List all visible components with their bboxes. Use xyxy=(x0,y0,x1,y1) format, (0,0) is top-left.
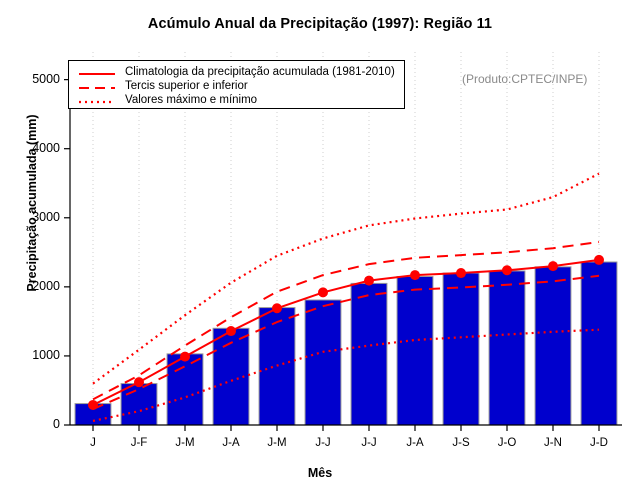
legend-label: Climatologia da precipitação acumulada (… xyxy=(125,66,395,78)
y-tick-label: 4000 xyxy=(14,141,60,155)
y-tick-label: 0 xyxy=(14,417,60,431)
data-point xyxy=(548,261,558,271)
bar xyxy=(121,384,157,425)
legend-label: Tercis superior e inferior xyxy=(125,80,248,92)
bar xyxy=(305,300,341,425)
producer-watermark: (Produto:CPTEC/INPE) xyxy=(462,72,587,86)
data-point xyxy=(502,265,512,275)
data-point xyxy=(88,400,98,410)
precipitation-chart: Acúmulo Anual da Precipitação (1997): Re… xyxy=(0,0,640,500)
data-point xyxy=(272,303,282,313)
legend-key-dashed-icon xyxy=(77,81,117,95)
data-point xyxy=(318,287,328,297)
data-point xyxy=(456,268,466,278)
data-point xyxy=(134,377,144,387)
bar xyxy=(351,283,387,425)
y-axis-label: Precipitação acumulada (mm) xyxy=(25,13,39,393)
legend-item: Valores máximo e mínimo xyxy=(69,95,404,109)
y-tick-label: 3000 xyxy=(14,210,60,224)
legend-item: Tercis superior e inferior xyxy=(69,81,404,95)
bar xyxy=(581,262,617,425)
bar xyxy=(443,273,479,425)
bar xyxy=(535,267,571,425)
y-tick-label: 1000 xyxy=(14,348,60,362)
data-point xyxy=(226,326,236,336)
y-tick-label: 5000 xyxy=(14,72,60,86)
legend-item: Climatologia da precipitação acumulada (… xyxy=(69,67,404,81)
data-point xyxy=(180,352,190,362)
data-point xyxy=(594,255,604,265)
y-tick-label: 2000 xyxy=(14,279,60,293)
bar xyxy=(397,276,433,425)
legend-key-solid-icon xyxy=(77,67,117,81)
data-point xyxy=(410,270,420,280)
x-tick-label: J-D xyxy=(569,437,629,449)
legend-key-dotted-icon xyxy=(77,95,117,109)
bar xyxy=(489,271,525,425)
data-point xyxy=(364,276,374,286)
x-axis-label: Mês xyxy=(0,466,640,480)
legend-label: Valores máximo e mínimo xyxy=(125,94,257,106)
chart-legend: Climatologia da precipitação acumulada (… xyxy=(68,60,405,109)
